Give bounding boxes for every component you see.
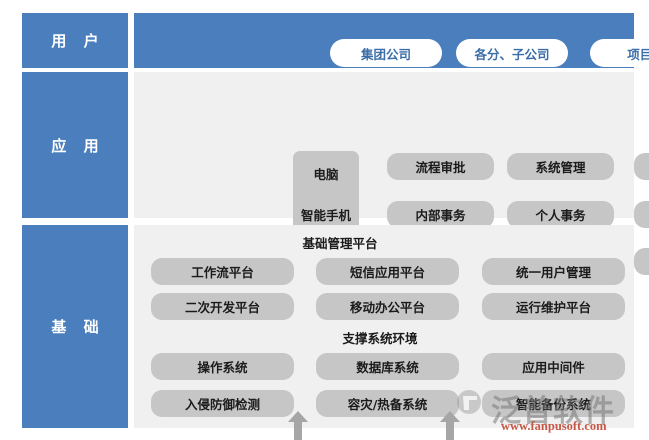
app-module-personal-affairs[interactable]: 个人事务 [507,201,614,228]
base-item-intrusion-prevention-detection[interactable]: 入侵防御检测 [151,390,294,417]
base-item-application-middleware[interactable]: 应用中间件 [482,353,625,380]
base-heading-management-platform: 基础管理平台 [134,233,546,252]
base-item-disaster-recovery-system[interactable]: 容灾/热备系统 [316,390,459,417]
row-label-base: 基 础 [22,225,128,428]
base-item-secondary-development-platform[interactable]: 二次开发平台 [151,293,294,320]
user-pill-group-company[interactable]: 集团公司 [330,39,442,67]
user-pill-project-department[interactable]: 项目部 [590,39,649,67]
app-module-internal-affairs[interactable]: 内部事务 [387,201,494,228]
base-item-operation-maintenance-platform[interactable]: 运行维护平台 [482,293,625,320]
device-label-smartphone: 智能手机 [301,210,351,223]
base-item-sms-platform[interactable]: 短信应用平台 [316,258,459,285]
base-heading-support-environment: 支撑系统环境 [134,328,626,347]
base-item-database-system[interactable]: 数据库系统 [316,353,459,380]
base-item-intelligent-backup-system[interactable]: 智能备份系统 [482,390,625,417]
up-arrow-icon-right [439,410,461,440]
app-module-document-management[interactable]: 公文管理 [634,248,649,275]
app-module-seal-management[interactable]: 印章管理 [634,201,649,228]
user-row-panel: 集团公司 各分、子公司 项目部 [134,13,634,68]
user-pill-branch-subsidiary[interactable]: 各分、子公司 [456,39,568,67]
row-label-user: 用 户 [22,13,128,68]
base-item-unified-user-management[interactable]: 统一用户管理 [482,258,625,285]
app-module-resource-management[interactable]: 资源管理 [634,153,649,180]
base-item-mobile-office-platform[interactable]: 移动办公平台 [316,293,459,320]
app-module-process-approval[interactable]: 流程审批 [387,153,494,180]
up-arrow-icon-left [287,410,309,440]
base-item-operating-system[interactable]: 操作系统 [151,353,294,380]
base-item-workflow-platform[interactable]: 工作流平台 [151,258,294,285]
app-module-system-management[interactable]: 系统管理 [507,153,614,180]
row-label-application: 应 用 [22,72,128,218]
device-label-pc: 电脑 [313,169,338,182]
architecture-diagram: 用 户 应 用 基 础 集团公司 各分、子公司 项目部 电脑 智能手机 IPAD… [0,0,649,440]
application-row-panel: 电脑 智能手机 IPAD 流程审批 系统管理 资源管理 内部事务 个人事务 印章… [134,72,634,218]
